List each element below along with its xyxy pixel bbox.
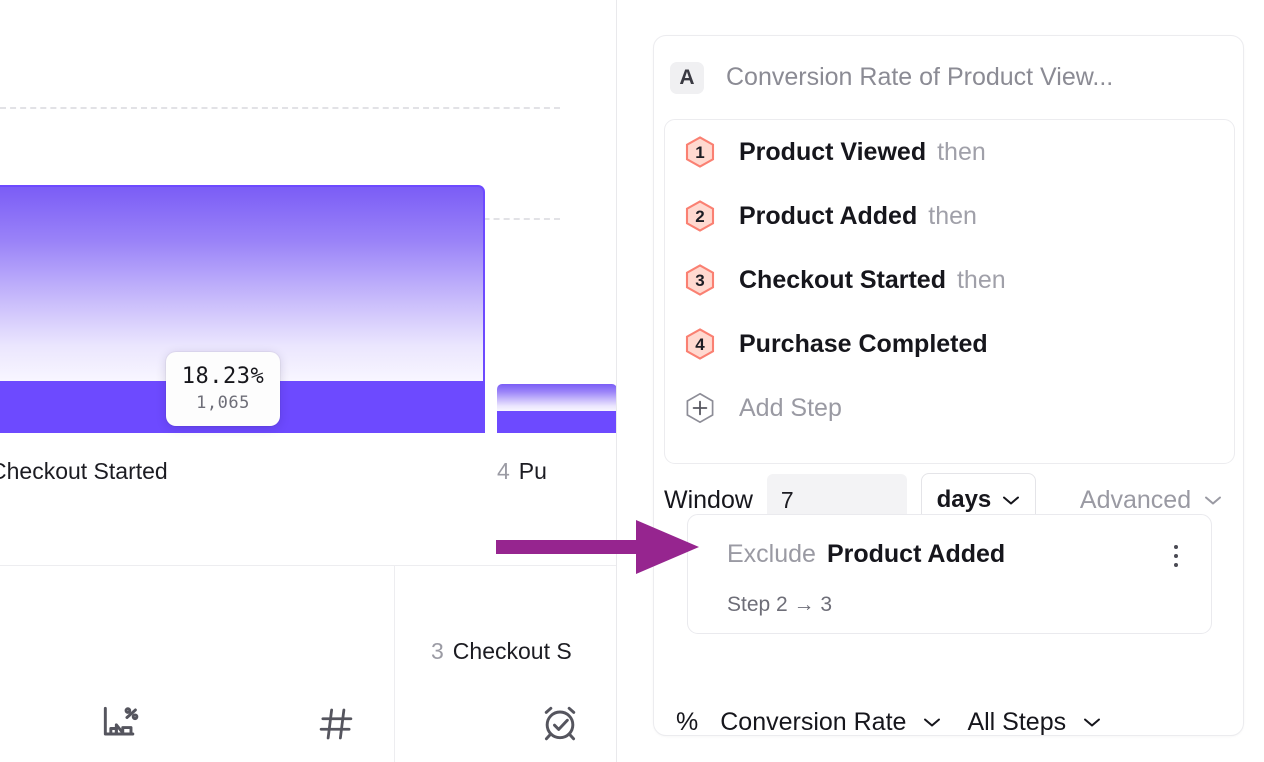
step-number-hexagon-icon: 2 bbox=[683, 199, 717, 233]
funnel-step-1[interactable]: 1 Product Viewed then bbox=[683, 134, 986, 170]
step-label: Product Viewed bbox=[739, 138, 926, 167]
chart-x-axis: Checkout Started 4Pu bbox=[0, 458, 617, 498]
step-number: 4 bbox=[695, 336, 704, 353]
percent-icon: % bbox=[676, 708, 698, 737]
series-letter-badge: A bbox=[670, 62, 704, 94]
chevron-down-icon bbox=[923, 717, 941, 728]
x-axis-label-name: Pu bbox=[519, 458, 547, 484]
step-then: then bbox=[957, 266, 1006, 295]
x-axis-label-step-4: 4Pu bbox=[497, 458, 547, 485]
funnel-step-4[interactable]: 4 Purchase Completed bbox=[683, 326, 999, 362]
step-number-hexagon-icon: 1 bbox=[683, 135, 717, 169]
x-axis-label-step-3: Checkout Started bbox=[0, 458, 168, 485]
advanced-label: Advanced bbox=[1080, 486, 1191, 515]
x-axis-label-name: Checkout Started bbox=[0, 458, 168, 484]
step-number: 2 bbox=[695, 208, 704, 225]
step-number: 1 bbox=[695, 144, 704, 161]
exclude-event-name: Product Added bbox=[827, 540, 1005, 569]
bottom-card-right[interactable]: 3Checkout S bbox=[394, 566, 617, 762]
exclude-rule-card[interactable]: Exclude Product Added Step 2 → 3 bbox=[687, 514, 1212, 634]
step-number-hexagon-icon: 4 bbox=[683, 327, 717, 361]
funnel-config-panel: A Conversion Rate of Product View... 1 P… bbox=[653, 35, 1244, 736]
chart-plot-area: 18.23% 1,065 bbox=[0, 0, 617, 455]
step-then: then bbox=[937, 138, 986, 167]
add-step-button[interactable]: Add Step bbox=[683, 390, 842, 426]
scope-value: All Steps bbox=[967, 708, 1066, 737]
metric-value: Conversion Rate bbox=[720, 708, 906, 737]
alarm-check-icon[interactable] bbox=[538, 701, 582, 750]
panel-title[interactable]: Conversion Rate of Product View... bbox=[726, 63, 1113, 92]
exclude-rule-title: Exclude Product Added bbox=[727, 540, 1005, 569]
bottom-card-right-icons bbox=[395, 700, 617, 756]
panel-header: A Conversion Rate of Product View... bbox=[654, 36, 1243, 119]
bottom-card-left-icons bbox=[0, 700, 393, 756]
bottom-card-right-title: 3Checkout S bbox=[431, 638, 572, 665]
bar-percent-icon[interactable] bbox=[98, 701, 142, 750]
step-number-hexagon-icon: 3 bbox=[683, 263, 717, 297]
add-step-label: Add Step bbox=[739, 394, 842, 423]
bottom-card-left[interactable]: d bbox=[0, 566, 393, 762]
bar-gradient bbox=[497, 384, 617, 411]
chevron-down-icon bbox=[1083, 717, 1101, 728]
tooltip-count: 1,065 bbox=[196, 393, 250, 413]
chart-bottom-cards: d bbox=[0, 566, 617, 762]
funnel-steps-card: 1 Product Viewed then 2 Product Added th… bbox=[664, 119, 1235, 464]
chevron-down-icon bbox=[1002, 495, 1020, 506]
funnel-step-2[interactable]: 2 Product Added then bbox=[683, 198, 977, 234]
panel-footer-controls: % Conversion Rate All Steps bbox=[664, 696, 1101, 748]
pane-divider bbox=[616, 0, 617, 762]
funnel-chart-pane: 18.23% 1,065 Checkout Started 4Pu d bbox=[0, 0, 617, 762]
bar-base bbox=[497, 411, 617, 433]
window-label: Window bbox=[664, 486, 753, 515]
exclude-prefix: Exclude bbox=[727, 540, 816, 569]
chart-tooltip: 18.23% 1,065 bbox=[166, 352, 280, 426]
bottom-card-right-name: Checkout S bbox=[453, 638, 572, 664]
scope-select[interactable]: All Steps bbox=[967, 708, 1101, 737]
menu-dot bbox=[1174, 554, 1178, 558]
bottom-card-right-number: 3 bbox=[431, 638, 444, 664]
step-label: Checkout Started bbox=[739, 266, 946, 295]
bottom-card-left-title: d bbox=[0, 638, 1, 665]
tooltip-percent: 18.23% bbox=[182, 365, 264, 389]
x-axis-label-number: 4 bbox=[497, 458, 510, 484]
step-label: Purchase Completed bbox=[739, 330, 988, 359]
advanced-toggle[interactable]: Advanced bbox=[1080, 486, 1222, 515]
exclude-step-range: Step 2 → 3 bbox=[727, 593, 832, 617]
funnel-bar-purchase-completed[interactable] bbox=[497, 384, 617, 433]
exclude-overflow-menu-icon[interactable] bbox=[1163, 539, 1189, 573]
plus-hexagon-icon bbox=[683, 391, 717, 425]
chevron-down-icon bbox=[1204, 495, 1222, 506]
metric-select[interactable]: Conversion Rate bbox=[720, 708, 941, 737]
menu-dot bbox=[1174, 563, 1178, 567]
gridline bbox=[0, 107, 560, 109]
step-then: then bbox=[928, 202, 977, 231]
menu-dot bbox=[1174, 545, 1178, 549]
step-label: Product Added bbox=[739, 202, 917, 231]
funnel-step-3[interactable]: 3 Checkout Started then bbox=[683, 262, 1006, 298]
bottom-card-left-name: d bbox=[0, 638, 1, 664]
hash-icon[interactable] bbox=[315, 703, 357, 750]
window-unit-value: days bbox=[937, 486, 992, 514]
step-number: 3 bbox=[695, 272, 704, 289]
